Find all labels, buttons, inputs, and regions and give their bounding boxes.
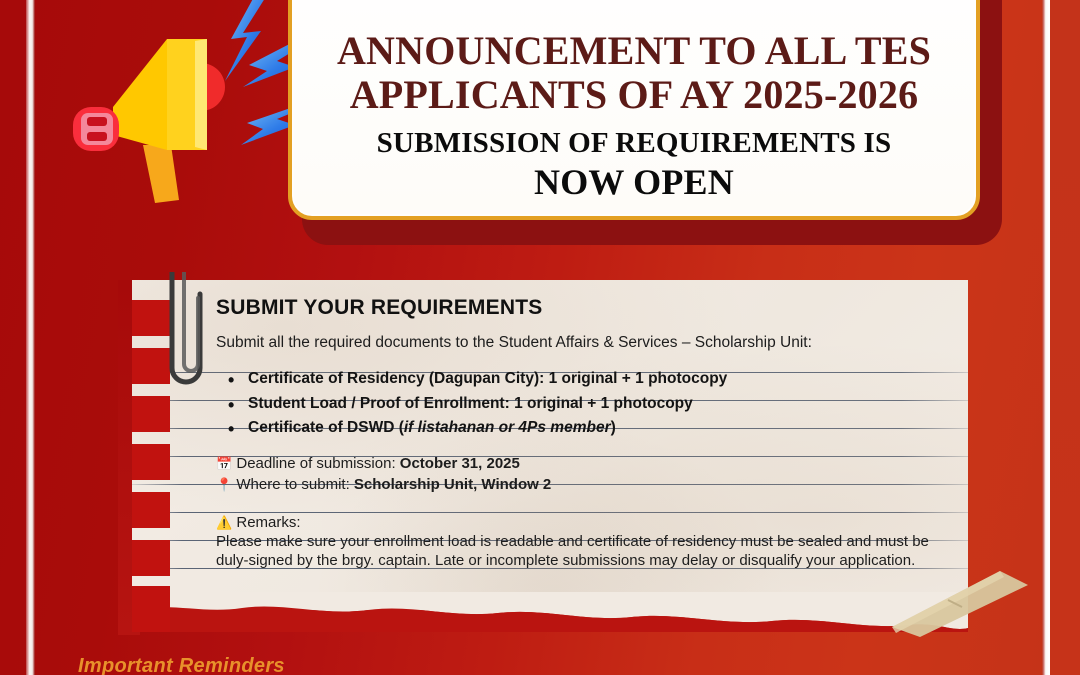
dswd-prefix: Certificate of DSWD ( — [248, 419, 404, 436]
where-label: Where to submit: — [236, 476, 354, 493]
requirements-note: SUBMIT YOUR REQUIREMENTS Submit all the … — [118, 280, 968, 635]
important-reminders-heading: Important Reminders — [78, 655, 285, 675]
note-heading: SUBMIT YOUR REQUIREMENTS — [216, 296, 946, 320]
paperclip-icon — [160, 272, 212, 407]
background-right-panel — [1050, 0, 1080, 675]
requirements-list: Certificate of Residency (Dagupan City):… — [216, 367, 946, 440]
decorative-white-stripe-left — [26, 0, 35, 675]
calendar-icon: 📅 — [216, 457, 232, 472]
submission-details: 📅 Deadline of submission: October 31, 20… — [216, 453, 946, 496]
where-value: Scholarship Unit, Window 2 — [354, 476, 551, 493]
location-pin-icon: 📍 — [216, 478, 232, 493]
remarks-heading: ⚠️ Remarks: — [216, 514, 946, 531]
note-content: SUBMIT YOUR REQUIREMENTS Submit all the … — [216, 296, 946, 571]
title-line-2: APPLICANTS OF AY 2025-2026 — [350, 73, 919, 118]
deadline-label: Deadline of submission: — [236, 455, 399, 472]
megaphone-icon — [55, 0, 315, 230]
requirement-item: Student Load / Proof of Enrollment: 1 or… — [216, 392, 946, 416]
title-line-4: NOW OPEN — [534, 162, 734, 202]
dswd-italic-note: if listahanan or 4Ps member — [404, 419, 611, 436]
deadline-line: 📅 Deadline of submission: October 31, 20… — [216, 453, 946, 474]
remarks-label: Remarks: — [236, 514, 300, 531]
deadline-value: October 31, 2025 — [400, 455, 520, 472]
warning-icon: ⚠️ — [216, 516, 232, 531]
dswd-suffix: ) — [611, 419, 616, 436]
announcement-title-card: ANNOUNCEMENT TO ALL TES APPLICANTS OF AY… — [288, 0, 980, 220]
binding-tab — [132, 492, 170, 528]
note-torn-bottom-edge — [132, 592, 968, 632]
binding-tab — [132, 586, 170, 632]
requirement-item: Certificate of Residency (Dagupan City):… — [216, 367, 946, 391]
masking-tape — [890, 565, 1030, 637]
title-line-3: SUBMISSION OF REQUIREMENTS IS — [377, 127, 892, 159]
decorative-white-stripe-right — [1042, 0, 1050, 675]
remarks-body: Please make sure your enrollment load is… — [216, 532, 946, 572]
binding-tab — [132, 444, 170, 480]
requirement-item-dswd: Certificate of DSWD (if listahanan or 4P… — [216, 416, 946, 440]
where-line: 📍 Where to submit: Scholarship Unit, Win… — [216, 474, 946, 495]
binding-tab — [132, 540, 170, 576]
note-intro-text: Submit all the required documents to the… — [216, 333, 946, 353]
title-line-1: ANNOUNCEMENT TO ALL TES — [337, 29, 931, 74]
